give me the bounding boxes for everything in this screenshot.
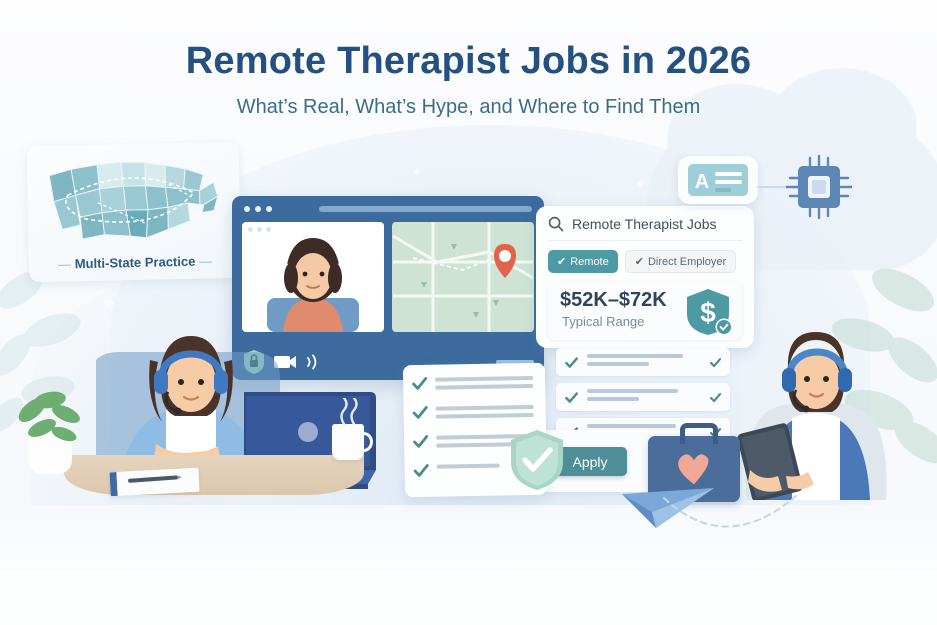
svg-text:$: $ <box>700 297 716 328</box>
job-search-card[interactable]: Remote Therapist Jobs ✔ Remote ✔ Direct … <box>536 206 754 348</box>
check-icon <box>413 462 430 479</box>
salary-caption: Typical Range <box>562 314 644 329</box>
filter-chip-direct-employer-label: Direct Employer <box>648 256 726 268</box>
dollar-shield-icon: $ <box>682 286 734 338</box>
window-maximize-dot-icon[interactable] <box>266 206 272 212</box>
potted-plant-icon <box>16 386 86 446</box>
license-id-card-icon: A <box>687 163 749 197</box>
cpu-chip-icon <box>786 154 852 220</box>
list-item[interactable] <box>411 373 537 394</box>
browser-url-bar[interactable] <box>319 206 532 212</box>
filter-chip-remote[interactable]: ✔ Remote <box>548 250 618 273</box>
coffee-mug-icon <box>332 424 364 460</box>
wire-connector-icon <box>757 186 789 188</box>
list-item[interactable] <box>556 348 730 376</box>
sparkle-icon: ✦ <box>412 166 422 178</box>
check-icon <box>411 375 428 392</box>
search-query-text: Remote Therapist Jobs <box>572 216 716 232</box>
window-minimize-dot-icon[interactable] <box>255 206 261 212</box>
steam-icon <box>334 398 364 426</box>
page-subtitle: What’s Real, What’s Hype, and Where to F… <box>0 96 937 119</box>
dash-left: — <box>58 256 71 271</box>
check-icon <box>412 404 429 421</box>
license-badge-card[interactable]: A <box>678 156 758 204</box>
salary-range-card: $52K–$72K Typical Range $ <box>548 282 742 340</box>
check-icon <box>709 391 722 404</box>
check-icon: ✔ <box>635 255 644 268</box>
sound-waves-icon <box>306 354 320 370</box>
illustration-canvas: ✦ ✦ ✦ ✦ Remote Therapist Jobs in 2026 Wh… <box>0 0 937 625</box>
map-panel[interactable] <box>392 222 534 332</box>
check-icon <box>709 356 722 369</box>
filter-chip-remote-label: Remote <box>570 256 609 268</box>
window-close-dot-icon[interactable] <box>244 206 250 212</box>
map-panel-icon <box>392 222 534 332</box>
salary-amount: $52K–$72K <box>560 289 667 312</box>
flight-path-dashes-icon <box>660 494 800 544</box>
list-item-text-placeholder <box>587 354 701 370</box>
list-item[interactable] <box>412 402 538 423</box>
verified-shield-icon <box>508 428 566 492</box>
check-icon: ✔ <box>557 255 566 268</box>
search-field[interactable]: Remote Therapist Jobs <box>548 216 742 241</box>
page-title: Remote Therapist Jobs in 2026 <box>0 40 937 83</box>
list-item[interactable] <box>556 383 730 411</box>
search-icon <box>548 216 564 232</box>
list-item-text-placeholder <box>436 402 538 423</box>
video-panel-dots <box>248 227 271 232</box>
browser-titlebar <box>238 202 538 216</box>
us-map-icon <box>41 152 227 244</box>
sparkle-icon: ✦ <box>636 178 646 190</box>
svg-text:A: A <box>695 171 709 193</box>
check-icon <box>412 433 429 450</box>
filter-chip-group: ✔ Remote ✔ Direct Employer <box>548 250 742 273</box>
list-item-text-placeholder <box>587 389 701 405</box>
heart-icon <box>674 450 714 486</box>
therapist-man-right-icon <box>736 250 896 500</box>
briefcase-handle <box>680 423 718 444</box>
check-icon <box>564 390 579 405</box>
filter-chip-direct-employer[interactable]: ✔ Direct Employer <box>625 250 736 273</box>
check-icon <box>564 355 579 370</box>
list-item-text-placeholder <box>435 373 537 394</box>
